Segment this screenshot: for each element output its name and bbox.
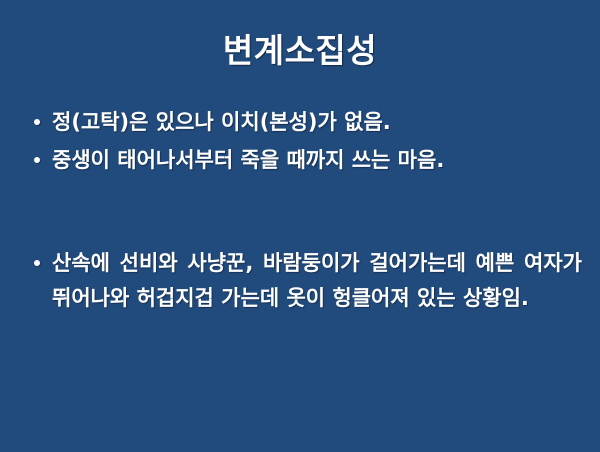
bullet-list: 정(고탁)은 있으나 이치(본성)가 없음. 중생이 태어나서부터 죽을 때까지… — [26, 104, 582, 316]
list-item-label: 정(고탁)은 있으나 이치(본성)가 없음. — [52, 104, 582, 140]
bullet-dot-icon — [34, 119, 40, 125]
list-item: 중생이 태어나서부터 죽을 때까지 쓰는 마음. — [26, 142, 582, 178]
bullet-dot-icon — [34, 157, 40, 163]
bullet-dot-icon — [34, 260, 40, 266]
list-item-label: 중생이 태어나서부터 죽을 때까지 쓰는 마음. — [52, 142, 582, 178]
list-item: 정(고탁)은 있으나 이치(본성)가 없음. — [26, 104, 582, 140]
list-item: 산속에 선비와 사냥꾼, 바람둥이가 걸어가는데 예쁜 여자가 뛰어나와 허겁지… — [26, 246, 582, 316]
page-title: 변계소집성 — [0, 32, 600, 70]
list-item-label: 산속에 선비와 사냥꾼, 바람둥이가 걸어가는데 예쁜 여자가 뛰어나와 허겁지… — [52, 246, 582, 316]
presentation-slide: 변계소집성 정(고탁)은 있으나 이치(본성)가 없음. 중생이 태어나서부터 … — [0, 0, 600, 452]
